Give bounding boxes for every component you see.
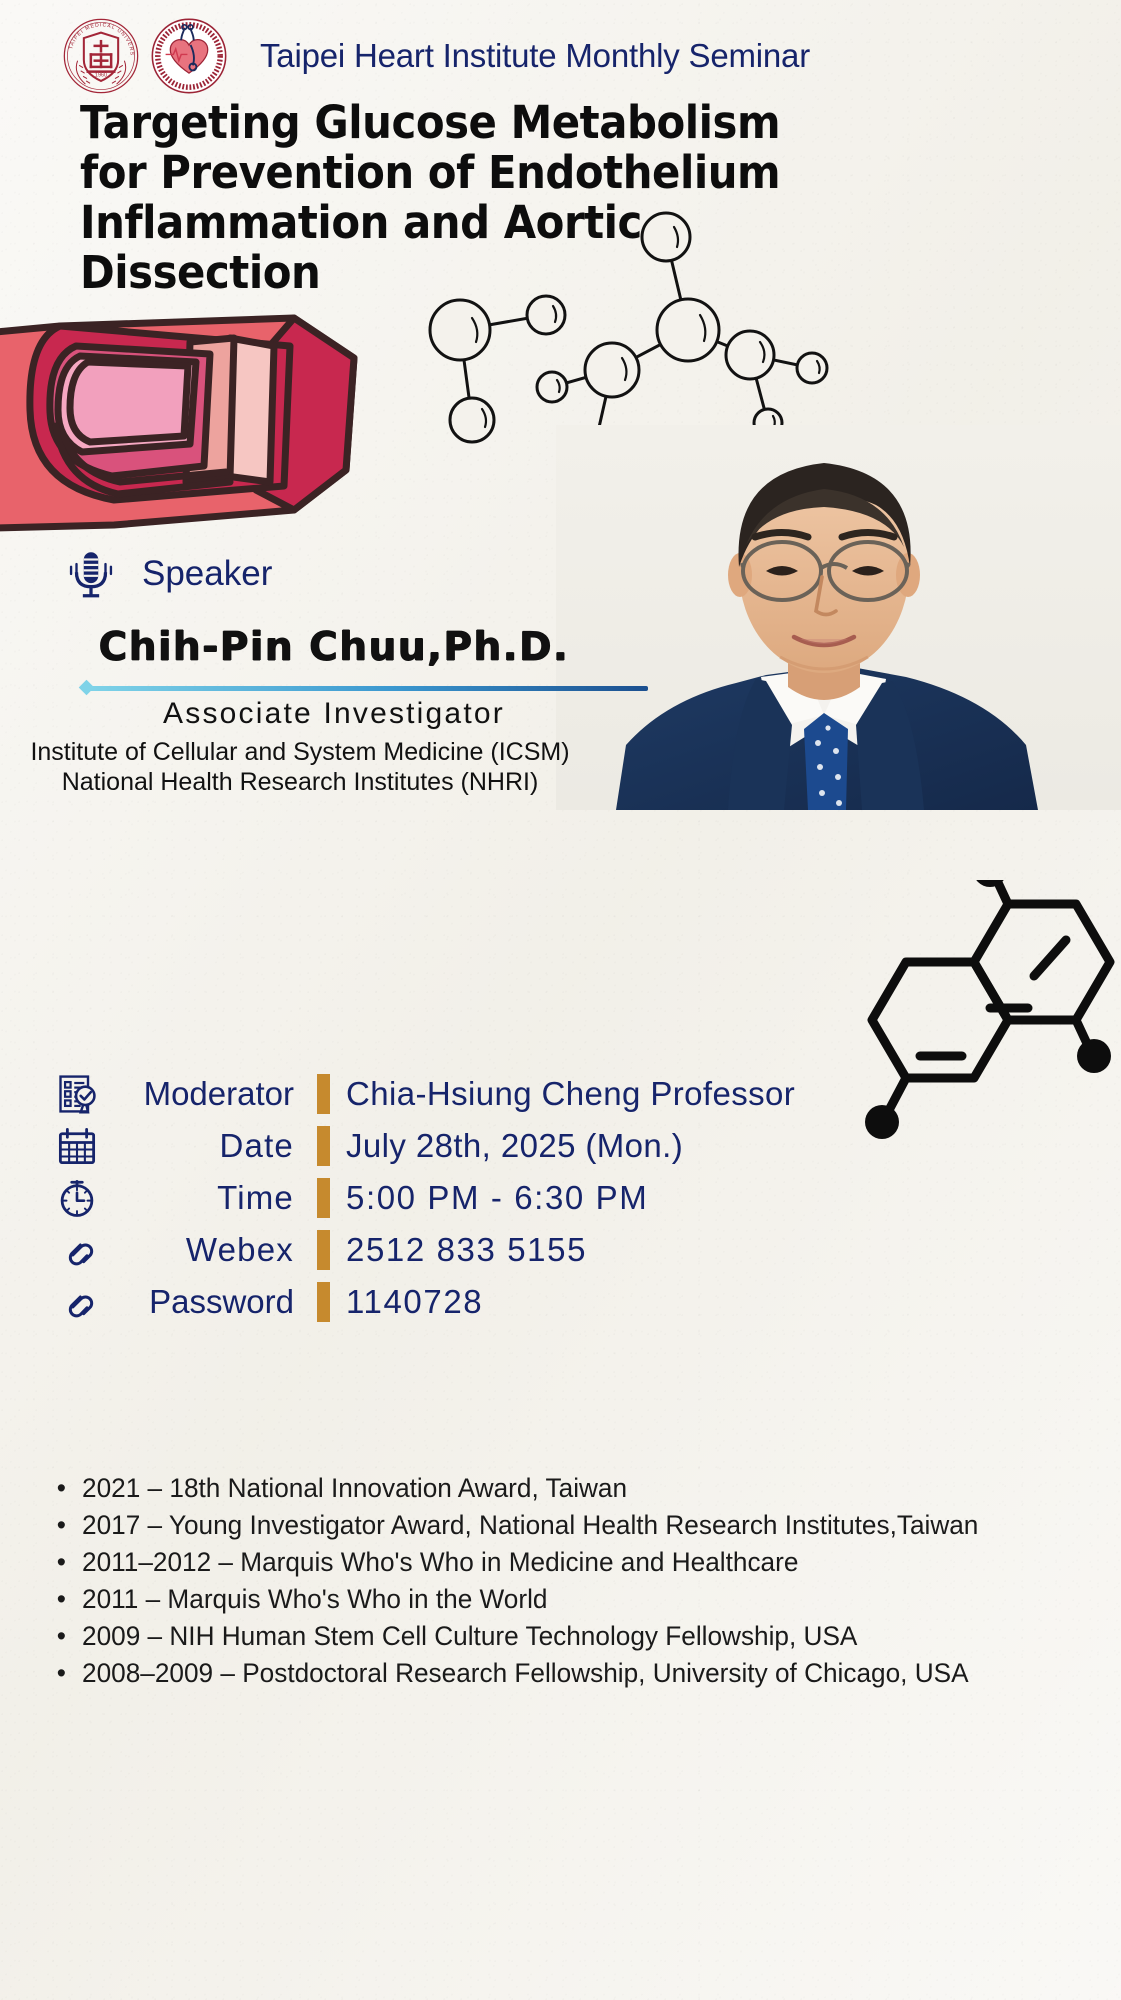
svg-text:1960: 1960 <box>95 72 107 78</box>
svg-text:TAIPEI MEDICAL UNIVERSITY: TAIPEI MEDICAL UNIVERSITY <box>62 17 135 56</box>
speaker-portrait-figure <box>556 425 1121 810</box>
chemical-structure-illustration <box>838 880 1121 1170</box>
taipei-heart-institute-logo <box>150 17 228 95</box>
speaker-name: Chih-Pin Chuu,Ph.D. <box>0 625 668 670</box>
detail-value-time: 5:00 PM - 6:30 PM <box>346 1179 648 1217</box>
detail-row-webex: Webex 2512 833 5155 <box>50 1224 810 1276</box>
speaker-section-header: Speaker <box>62 545 272 603</box>
detail-row-time: Time 5:00 PM - 6:30 PM <box>50 1172 810 1224</box>
speaker-position: Associate Investigator <box>0 697 668 731</box>
awards-list: 2021 – 18th National Innovation Award, T… <box>48 1472 1112 1694</box>
aorta-cross-section-illustration <box>0 300 364 540</box>
detail-label-webex: Webex <box>104 1231 300 1269</box>
detail-divider-bar <box>300 1230 346 1270</box>
detail-divider-bar <box>300 1178 346 1218</box>
calendar-icon <box>56 1125 98 1167</box>
title-line-1: Targeting Glucose Metabolism <box>80 98 750 148</box>
detail-row-password: Password 1140728 <box>50 1276 810 1328</box>
poster-header: 1960 TAIPEI MEDICAL UNIVERSITY <box>0 14 1121 98</box>
title-line-2: for Prevention of Endothelium <box>80 148 750 198</box>
speaker-affiliation-line-2: National Health Research Institutes (NHR… <box>0 767 600 797</box>
link-icon <box>57 1282 97 1322</box>
clock-icon <box>56 1177 98 1219</box>
taipei-medical-university-logo: 1960 TAIPEI MEDICAL UNIVERSITY <box>62 17 140 95</box>
list-item: 2009 – NIH Human Stem Cell Culture Techn… <box>82 1620 1081 1653</box>
list-item: 2008–2009 – Postdoctoral Research Fellow… <box>82 1657 1081 1690</box>
detail-value-date: July 28th, 2025 (Mon.) <box>346 1127 683 1165</box>
speaker-name-divider <box>88 686 648 691</box>
detail-value-webex: 2512 833 5155 <box>346 1231 587 1269</box>
list-item: 2011 – Marquis Who's Who in the World <box>82 1583 1081 1616</box>
list-item: 2011–2012 – Marquis Who's Who in Medicin… <box>82 1546 1081 1579</box>
microphone-icon <box>62 545 120 603</box>
speaker-affiliation: Institute of Cellular and System Medicin… <box>0 737 600 797</box>
link-icon <box>57 1230 97 1270</box>
detail-divider-bar <box>300 1126 346 1166</box>
detail-label-date: Date <box>104 1127 300 1165</box>
speaker-photo <box>556 425 1121 810</box>
header-title: Taipei Heart Institute Monthly Seminar <box>260 37 810 75</box>
speaker-affiliation-line-1: Institute of Cellular and System Medicin… <box>0 737 600 767</box>
detail-row-moderator: Moderator Chia-Hsiung Cheng Professor <box>50 1068 810 1120</box>
detail-row-date: Date July 28th, 2025 (Mon.) <box>50 1120 810 1172</box>
list-item: 2021 – 18th National Innovation Award, T… <box>82 1472 1081 1505</box>
speaker-label: Speaker <box>142 554 272 594</box>
detail-value-moderator: Chia-Hsiung Cheng Professor <box>346 1075 795 1113</box>
detail-divider-bar <box>300 1074 346 1114</box>
clipboard-check-icon <box>55 1072 99 1116</box>
event-details-list: Moderator Chia-Hsiung Cheng Professor <box>50 1068 810 1328</box>
list-item: 2017 – Young Investigator Award, Nationa… <box>82 1509 1081 1542</box>
detail-label-time: Time <box>104 1179 300 1217</box>
detail-value-password: 1140728 <box>346 1283 483 1321</box>
detail-label-password: Password <box>104 1283 300 1321</box>
detail-label-moderator: Moderator <box>104 1075 300 1113</box>
seminar-poster: 1960 TAIPEI MEDICAL UNIVERSITY <box>0 0 1121 2000</box>
detail-divider-bar <box>300 1282 346 1322</box>
